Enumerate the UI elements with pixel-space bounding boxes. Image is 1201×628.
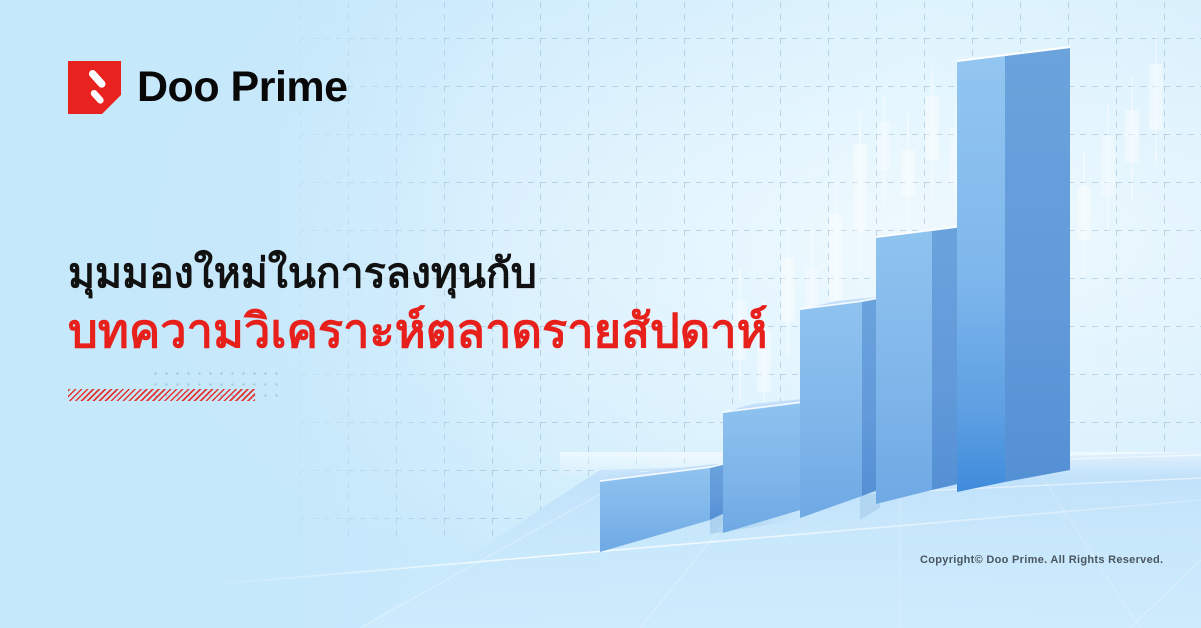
copyright-text: Copyright© Doo Prime. All Rights Reserve… [920,554,1163,566]
bar-1 [600,461,735,552]
doo-prime-logo-mark-icon [68,61,121,114]
brand-name: Doo Prime [137,66,348,109]
red-diagonal-stripe-band [68,389,255,401]
brand-logo[interactable]: Doo Prime [68,61,348,114]
bar-5 [957,47,1070,492]
headline-line-2: บทความวิเคราะห์ตลาดรายสัปดาห์ [68,302,808,359]
headline-line-1: มุมมองใหม่ในการลงทุนกับ [68,248,808,298]
headline-block: มุมมองใหม่ในการลงทุนกับ บทความวิเคราะห์ต… [68,248,808,359]
promo-banner: Doo Prime มุมมองใหม่ในการลงทุนกับ บทความ… [0,0,1201,628]
